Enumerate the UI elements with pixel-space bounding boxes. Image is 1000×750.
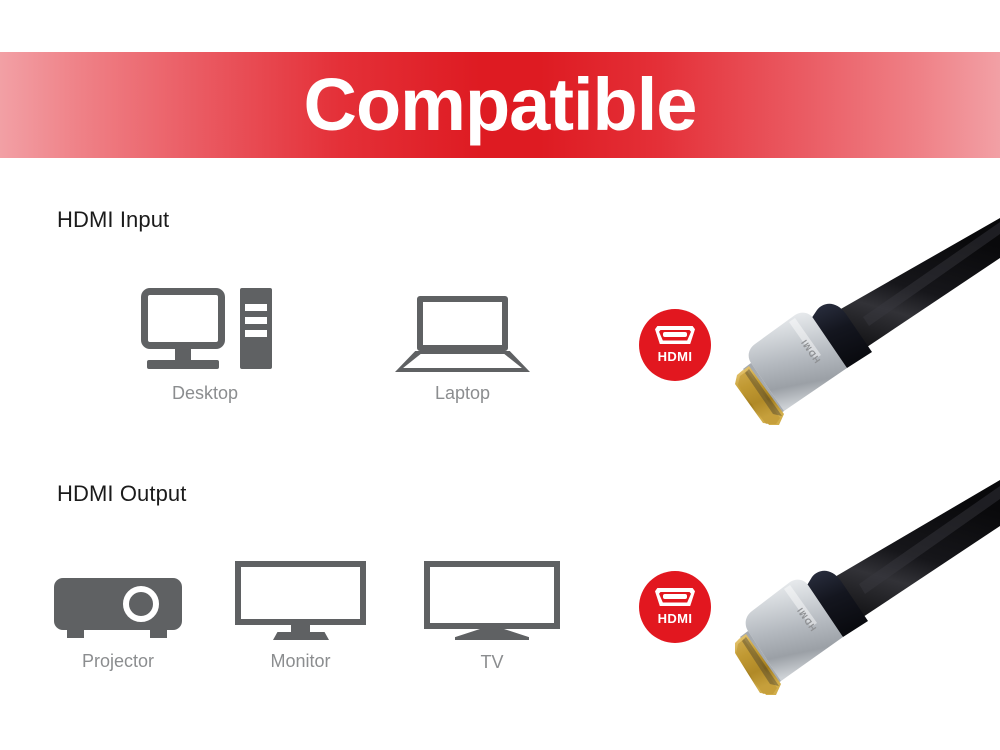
- section-label-hdmi-input: HDMI Input: [57, 207, 169, 233]
- hdmi-badge-output: HDMI: [639, 571, 711, 643]
- device-cell-desktop: Desktop: [120, 288, 290, 404]
- hdmi-cable-icon-input: HDMI: [735, 218, 1000, 448]
- hdmi-port-icon: [655, 326, 695, 344]
- desktop-monitor-shape: [141, 288, 225, 349]
- device-label-tv: TV: [424, 652, 560, 673]
- desktop-icon: [120, 288, 290, 372]
- device-label-desktop: Desktop: [120, 383, 290, 404]
- tv-icon: [424, 561, 560, 641]
- device-cell-tv: TV: [424, 561, 560, 673]
- monitor-base: [273, 632, 329, 640]
- laptop-screen-shape: [417, 296, 508, 351]
- laptop-icon: [395, 296, 530, 372]
- tower-slot: [245, 304, 267, 311]
- desktop-tower-shape: [240, 288, 272, 369]
- device-label-projector: Projector: [50, 651, 186, 672]
- projector-lens-shape: [123, 586, 159, 622]
- header-banner: Compatible: [0, 52, 1000, 158]
- tower-slot: [245, 317, 267, 324]
- hdmi-port-icon: [655, 588, 695, 606]
- device-cell-monitor: Monitor: [235, 561, 366, 672]
- hdmi-cable-art: [735, 218, 1000, 448]
- hdmi-cable-art: [735, 480, 1000, 720]
- hdmi-badge-label: HDMI: [658, 611, 693, 626]
- device-label-laptop: Laptop: [395, 383, 530, 404]
- projector-foot: [67, 630, 84, 638]
- hdmi-cable-icon-output: HDMI: [735, 480, 1000, 720]
- tv-screen-shape: [424, 561, 560, 629]
- monitor-icon: [235, 561, 366, 640]
- hdmi-port-bar: [663, 594, 687, 599]
- desktop-monitor-base: [147, 360, 219, 369]
- device-cell-laptop: Laptop: [395, 296, 530, 404]
- page-title: Compatible: [0, 52, 1000, 158]
- hdmi-badge-label: HDMI: [658, 349, 693, 364]
- tower-slot: [245, 330, 267, 337]
- hdmi-port-bar: [663, 332, 687, 337]
- monitor-screen-shape: [235, 561, 366, 625]
- device-label-monitor: Monitor: [235, 651, 366, 672]
- projector-icon: [50, 578, 186, 640]
- infographic-page: Compatible HDMI Input Desktop Laptop: [0, 0, 1000, 750]
- projector-body-shape: [54, 578, 182, 630]
- section-label-hdmi-output: HDMI Output: [57, 481, 186, 507]
- hdmi-badge-input: HDMI: [639, 309, 711, 381]
- projector-foot: [150, 630, 167, 638]
- device-cell-projector: Projector: [50, 578, 186, 672]
